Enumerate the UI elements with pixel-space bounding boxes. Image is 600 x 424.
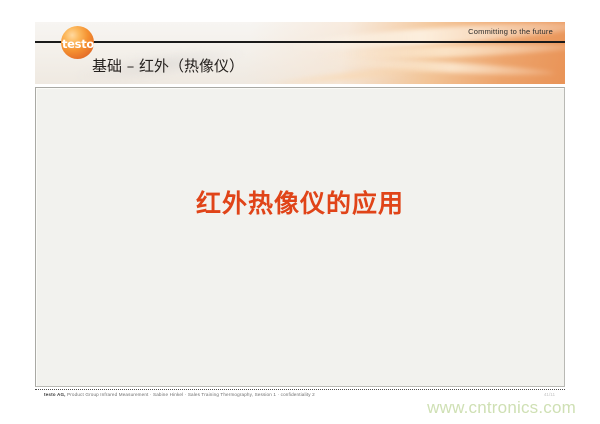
header-divider-rule <box>35 41 565 43</box>
testo-logo: testo <box>61 26 94 59</box>
slide: Committing to the future testo 基础 – 红外（热… <box>35 22 565 404</box>
header-streak-decoration <box>315 41 565 61</box>
footer-divider-rule <box>35 389 565 390</box>
header-streak-decoration <box>325 56 555 78</box>
slide-section-title: 基础 – 红外（热像仪） <box>92 55 244 76</box>
header-streak-decoration <box>255 62 445 84</box>
slide-page-number: 41/11 <box>544 392 555 397</box>
footer-source-text: testo AG, Product Group Infrared Measure… <box>44 392 315 397</box>
slide-content-panel: 红外热像仪的应用 <box>35 87 565 387</box>
site-watermark: www.cntronics.com <box>427 398 576 418</box>
logo-wordmark: testo <box>55 37 101 51</box>
footer-source-company: testo AG, <box>44 392 66 397</box>
slide-main-title: 红外热像仪的应用 <box>36 184 564 220</box>
slide-header: Committing to the future testo 基础 – 红外（热… <box>35 22 565 84</box>
footer-source-detail: Product Group Infrared Measurement · Sab… <box>66 392 315 397</box>
company-tagline: Committing to the future <box>468 27 553 36</box>
